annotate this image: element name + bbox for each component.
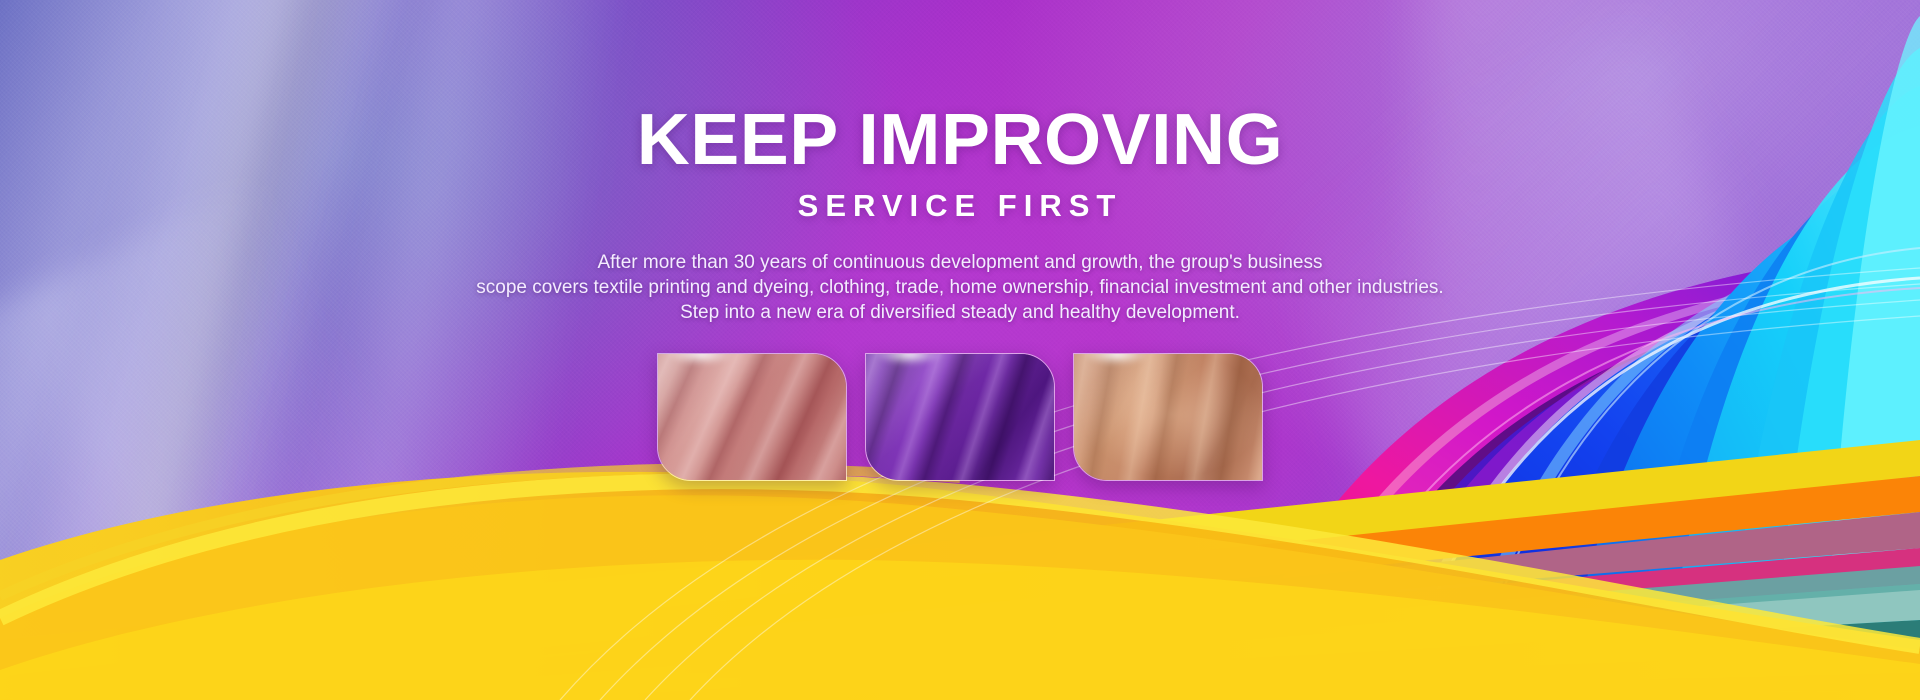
hero-copy: KEEP IMPROVING SERVICE FIRST After more … (0, 104, 1920, 325)
rose-satin-swatch[interactable] (657, 353, 847, 481)
description-line-1: After more than 30 years of continuous d… (0, 250, 1920, 275)
description-paragraph: After more than 30 years of continuous d… (0, 250, 1920, 325)
tan-satin-swatch[interactable] (1073, 353, 1263, 481)
description-line-3: Step into a new era of diversified stead… (0, 300, 1920, 325)
purple-satin-sheen (866, 354, 1054, 480)
rose-satin-sheen (658, 354, 846, 480)
purple-satin-swatch[interactable] (865, 353, 1055, 481)
fabric-swatch-row (657, 353, 1263, 481)
tan-satin-sheen (1074, 354, 1262, 480)
description-line-2: scope covers textile printing and dyeing… (0, 275, 1920, 300)
page-title: KEEP IMPROVING (0, 104, 1920, 176)
hero-banner: KEEP IMPROVING SERVICE FIRST After more … (0, 0, 1920, 700)
page-subtitle: SERVICE FIRST (0, 188, 1920, 224)
